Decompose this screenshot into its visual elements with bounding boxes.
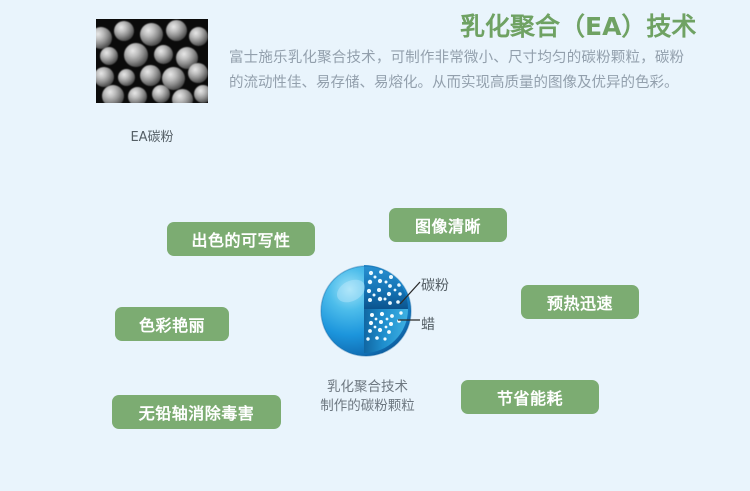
feature-pill-fast-warmup[interactable]: 预热迅速: [521, 285, 639, 319]
feature-pill-writability[interactable]: 出色的可写性: [167, 222, 315, 256]
toner-particle: [152, 85, 170, 103]
toner-particle: [118, 69, 135, 86]
feature-pill-vivid-color[interactable]: 色彩艳丽: [115, 307, 229, 341]
toner-particle: [154, 45, 173, 64]
toner-particle: [166, 20, 187, 41]
toner-particle: [140, 23, 163, 46]
diagram-caption-line2: 制作的碳粉颗粒: [300, 397, 435, 416]
toner-particle: [172, 89, 193, 103]
diagram-caption-line1: 乳化聚合技术: [300, 378, 435, 397]
toner-particle: [124, 43, 148, 67]
toner-particle: [140, 65, 161, 86]
diagram-caption: 乳化聚合技术 制作的碳粉颗粒: [300, 378, 435, 416]
toner-particle: [100, 47, 118, 65]
feature-pill-image-clarity[interactable]: 图像清晰: [389, 208, 507, 242]
feature-pill-lead-free[interactable]: 无铅轴消除毒害: [112, 395, 281, 429]
page-root: 乳化聚合（EA）技术 EA碳粉 富士施乐乳化聚合技术，可制作非常微小、尺寸均匀的…: [0, 0, 750, 491]
toner-particle: [96, 27, 112, 49]
intro-paragraph: 富士施乐乳化聚合技术，可制作非常微小、尺寸均匀的碳粉颗粒，碳粉的流动性佳、易存储…: [229, 46, 684, 96]
feature-pill-energy-saving[interactable]: 节省能耗: [461, 380, 599, 414]
ea-toner-micrograph: [96, 19, 208, 103]
toner-particle: [188, 63, 208, 83]
micrograph-caption: EA碳粉: [96, 126, 208, 145]
toner-particle: [128, 87, 147, 103]
page-title: 乳化聚合（EA）技术: [460, 7, 740, 43]
toner-particle: [96, 67, 114, 87]
toner-particle: [194, 85, 208, 103]
toner-particle: [114, 21, 134, 41]
callout-label-toner: 碳粉: [421, 275, 449, 295]
toner-particle: [102, 85, 124, 103]
toner-particle: [189, 27, 208, 46]
callout-label-wax: 蜡: [421, 314, 435, 334]
